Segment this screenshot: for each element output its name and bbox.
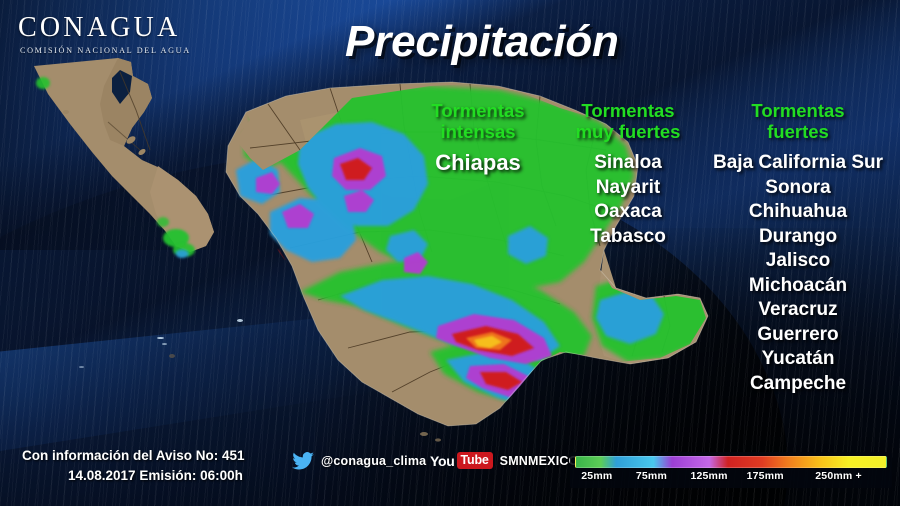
state-name: Oaxaca xyxy=(553,200,703,225)
state-name: Jalisco xyxy=(698,249,898,274)
youtube-logo: You Tube xyxy=(430,452,493,469)
state-list-intensas: Chiapas xyxy=(398,151,558,176)
state-name: Tabasco xyxy=(553,225,703,250)
state-name: Nayarit xyxy=(553,176,703,201)
column-heading-line2: intensas xyxy=(398,121,558,142)
state-name: Chihuahua xyxy=(698,200,898,225)
conagua-tagline: COMISIÓN NACIONAL DEL AGUA xyxy=(18,46,191,55)
legend-tick-label: 75mm xyxy=(636,470,667,482)
conagua-logo: CONAGUA COMISIÓN NACIONAL DEL AGUA xyxy=(18,14,191,55)
aviso-info: Con información del Aviso No: 451 14.08.… xyxy=(22,446,245,486)
state-list-fuertes: Baja California SurSonoraChihuahuaDurang… xyxy=(698,151,898,396)
column-heading-line2: muy fuertes xyxy=(553,121,703,142)
youtube-you-text: You xyxy=(430,453,455,469)
aviso-line2: 14.08.2017 Emisión: 06:00h xyxy=(22,466,245,486)
legend-tick-label: 125mm xyxy=(690,470,727,482)
column-heading: Tormentas fuertes xyxy=(698,100,898,142)
column-heading: Tormentas intensas xyxy=(398,100,558,142)
column-heading-line1: Tormentas xyxy=(553,100,703,121)
state-name: Sinaloa xyxy=(553,151,703,176)
column-heading-line1: Tormentas xyxy=(398,100,558,121)
page-title: Precipitación xyxy=(345,17,619,67)
weather-graphic: CONAGUA COMISIÓN NACIONAL DEL AGUA Preci… xyxy=(0,0,900,506)
column-heading-line2: fuertes xyxy=(698,121,898,142)
column-heading-line1: Tormentas xyxy=(698,100,898,121)
state-name: Durango xyxy=(698,225,898,250)
state-name: Guerrero xyxy=(698,323,898,348)
legend-tick-label: 25mm xyxy=(581,470,612,482)
baja-california-landmass xyxy=(34,58,214,258)
twitter-handle: @conagua_clima xyxy=(321,454,426,468)
column-tormentas-muy-fuertes: Tormentas muy fuertes SinaloaNayaritOaxa… xyxy=(553,100,703,249)
legend-tick-label: 175mm xyxy=(747,470,784,482)
youtube-tube-badge: Tube xyxy=(457,452,493,469)
aviso-line1: Con información del Aviso No: 451 xyxy=(22,446,245,466)
column-heading: Tormentas muy fuertes xyxy=(553,100,703,142)
state-list-muy-fuertes: SinaloaNayaritOaxacaTabasco xyxy=(553,151,703,249)
state-name: Baja California Sur xyxy=(698,151,898,176)
column-tormentas-intensas: Tormentas intensas Chiapas xyxy=(398,100,558,176)
state-name: Yucatán xyxy=(698,347,898,372)
column-tormentas-fuertes: Tormentas fuertes Baja California SurSon… xyxy=(698,100,898,396)
conagua-wordmark: CONAGUA xyxy=(18,14,191,42)
youtube-account[interactable]: You Tube SMNMEXICO xyxy=(430,452,579,469)
twitter-bird-icon xyxy=(292,452,314,470)
youtube-channel-name: SMNMEXICO xyxy=(500,454,579,468)
state-name: Chiapas xyxy=(398,151,558,176)
precipitation-legend: 25mm75mm125mm175mm250mm + xyxy=(570,452,892,488)
state-name: Campeche xyxy=(698,372,898,397)
legend-tick-label: 250mm + xyxy=(815,470,862,482)
state-name: Sonora xyxy=(698,176,898,201)
state-name: Michoacán xyxy=(698,274,898,299)
twitter-account[interactable]: @conagua_clima xyxy=(292,452,426,470)
legend-tick-labels: 25mm75mm125mm175mm250mm + xyxy=(575,470,887,486)
legend-color-bar xyxy=(575,456,887,468)
state-name: Veracruz xyxy=(698,298,898,323)
